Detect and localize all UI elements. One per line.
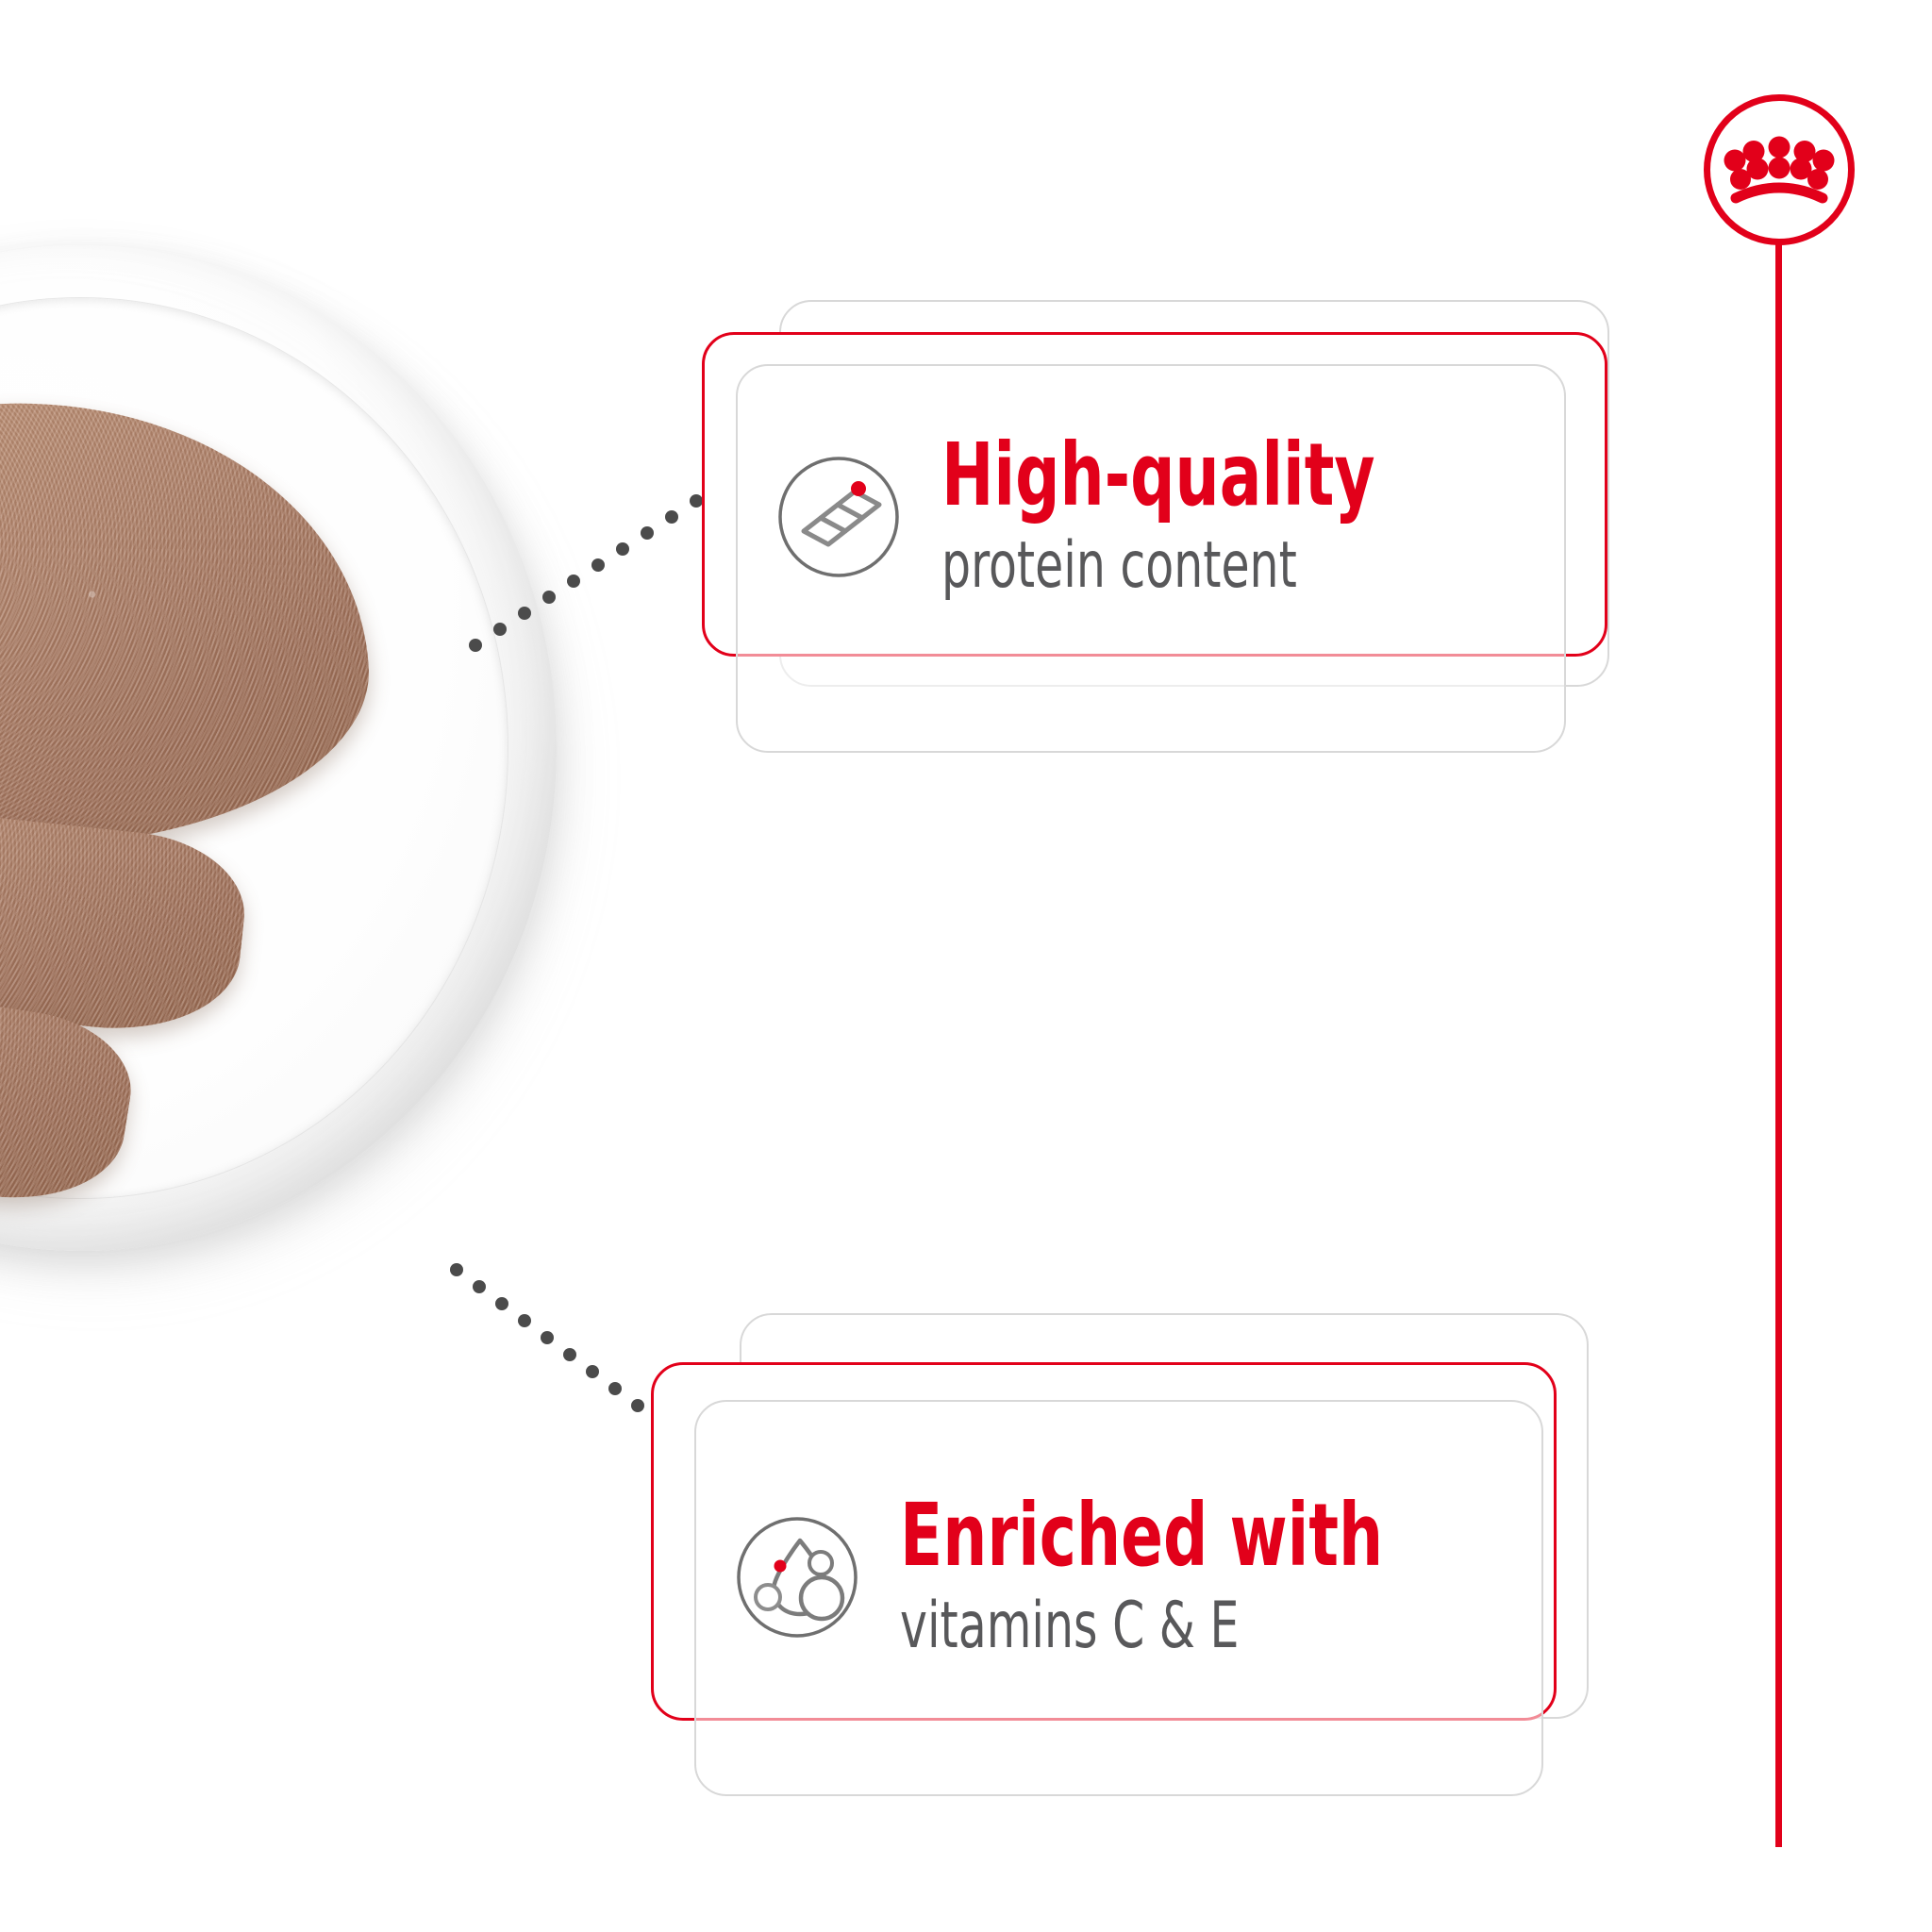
royal-canin-logo — [1704, 94, 1855, 245]
feature-card-high-quality-protein[interactable]: High-quality protein content — [702, 300, 1711, 706]
card-content: Enriched with vitamins C & E — [726, 1417, 1557, 1738]
crown-icon — [1704, 94, 1855, 245]
feature-subtitle: vitamins C & E — [900, 1592, 1383, 1660]
feature-title: High-quality — [941, 434, 1375, 517]
feature-title: Enriched with — [900, 1494, 1383, 1577]
pate-food-group — [0, 404, 404, 1177]
card-content: High-quality protein content — [768, 375, 1598, 658]
product-photo — [0, 245, 613, 1311]
logo-vertical-line — [1775, 241, 1782, 1847]
feature-card-enriched-vitamins[interactable]: Enriched with vitamins C & E — [651, 1313, 1660, 1757]
feature-text-block: Enriched with vitamins C & E — [900, 1494, 1504, 1660]
feature-text-block: High-quality protein content — [941, 434, 1483, 600]
vitamin-droplet-icon — [726, 1507, 868, 1648]
protein-ribbon-icon — [768, 446, 909, 588]
poster-canvas: High-quality protein content Enriched wi… — [0, 0, 1932, 1932]
feature-subtitle: protein content — [941, 532, 1375, 600]
pate-main-piece — [0, 385, 377, 865]
